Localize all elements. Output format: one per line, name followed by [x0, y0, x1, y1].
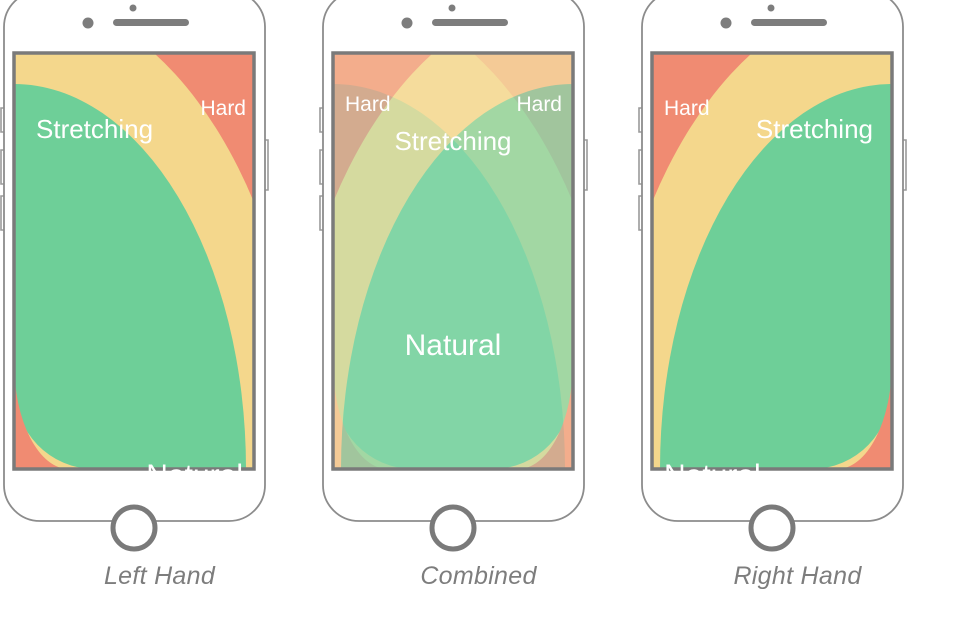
home-button[interactable]	[432, 507, 474, 549]
label-stretching-right-phone: Stretching	[756, 114, 873, 144]
screen-right-hand	[638, 0, 957, 618]
proximity-sensor-icon	[449, 5, 456, 12]
label-natural-right-phone: Natural	[664, 459, 761, 492]
label-natural-left-phone: Natural	[146, 459, 243, 492]
phone-right-hand: Hard Stretching Natural Right Hand	[638, 0, 957, 618]
earpiece-speaker-icon	[113, 19, 189, 26]
caption-combined: Combined	[319, 562, 638, 591]
home-button[interactable]	[751, 507, 793, 549]
front-camera-icon	[721, 18, 732, 29]
phone-combined-illustration: Hard Hard Stretching Natural	[319, 0, 638, 618]
label-hard-right-combined: Hard	[516, 93, 562, 116]
phone-right-hand-illustration: Hard Stretching Natural	[638, 0, 957, 618]
earpiece-speaker-icon	[432, 19, 508, 26]
front-camera-icon	[83, 18, 94, 29]
phone-left-hand: Hard Stretching Natural Left Hand	[0, 0, 319, 618]
proximity-sensor-icon	[768, 5, 775, 12]
label-hard-left-phone: Hard	[200, 97, 246, 120]
label-hard-left-combined: Hard	[345, 93, 391, 116]
caption-right-hand: Right Hand	[638, 562, 957, 591]
home-button[interactable]	[113, 507, 155, 549]
earpiece-speaker-icon	[751, 19, 827, 26]
label-natural-combined: Natural	[405, 329, 502, 362]
label-stretching-left-phone: Stretching	[36, 114, 153, 144]
phone-combined: Hard Hard Stretching Natural Combined	[319, 0, 638, 618]
proximity-sensor-icon	[130, 5, 137, 12]
phone-left-hand-illustration: Hard Stretching Natural	[0, 0, 319, 618]
caption-left-hand: Left Hand	[0, 562, 319, 591]
thumb-zone-diagram: Hard Stretching Natural Left Hand	[0, 0, 957, 618]
label-hard-right-phone: Hard	[664, 97, 710, 120]
front-camera-icon	[402, 18, 413, 29]
label-stretching-combined: Stretching	[394, 126, 511, 156]
